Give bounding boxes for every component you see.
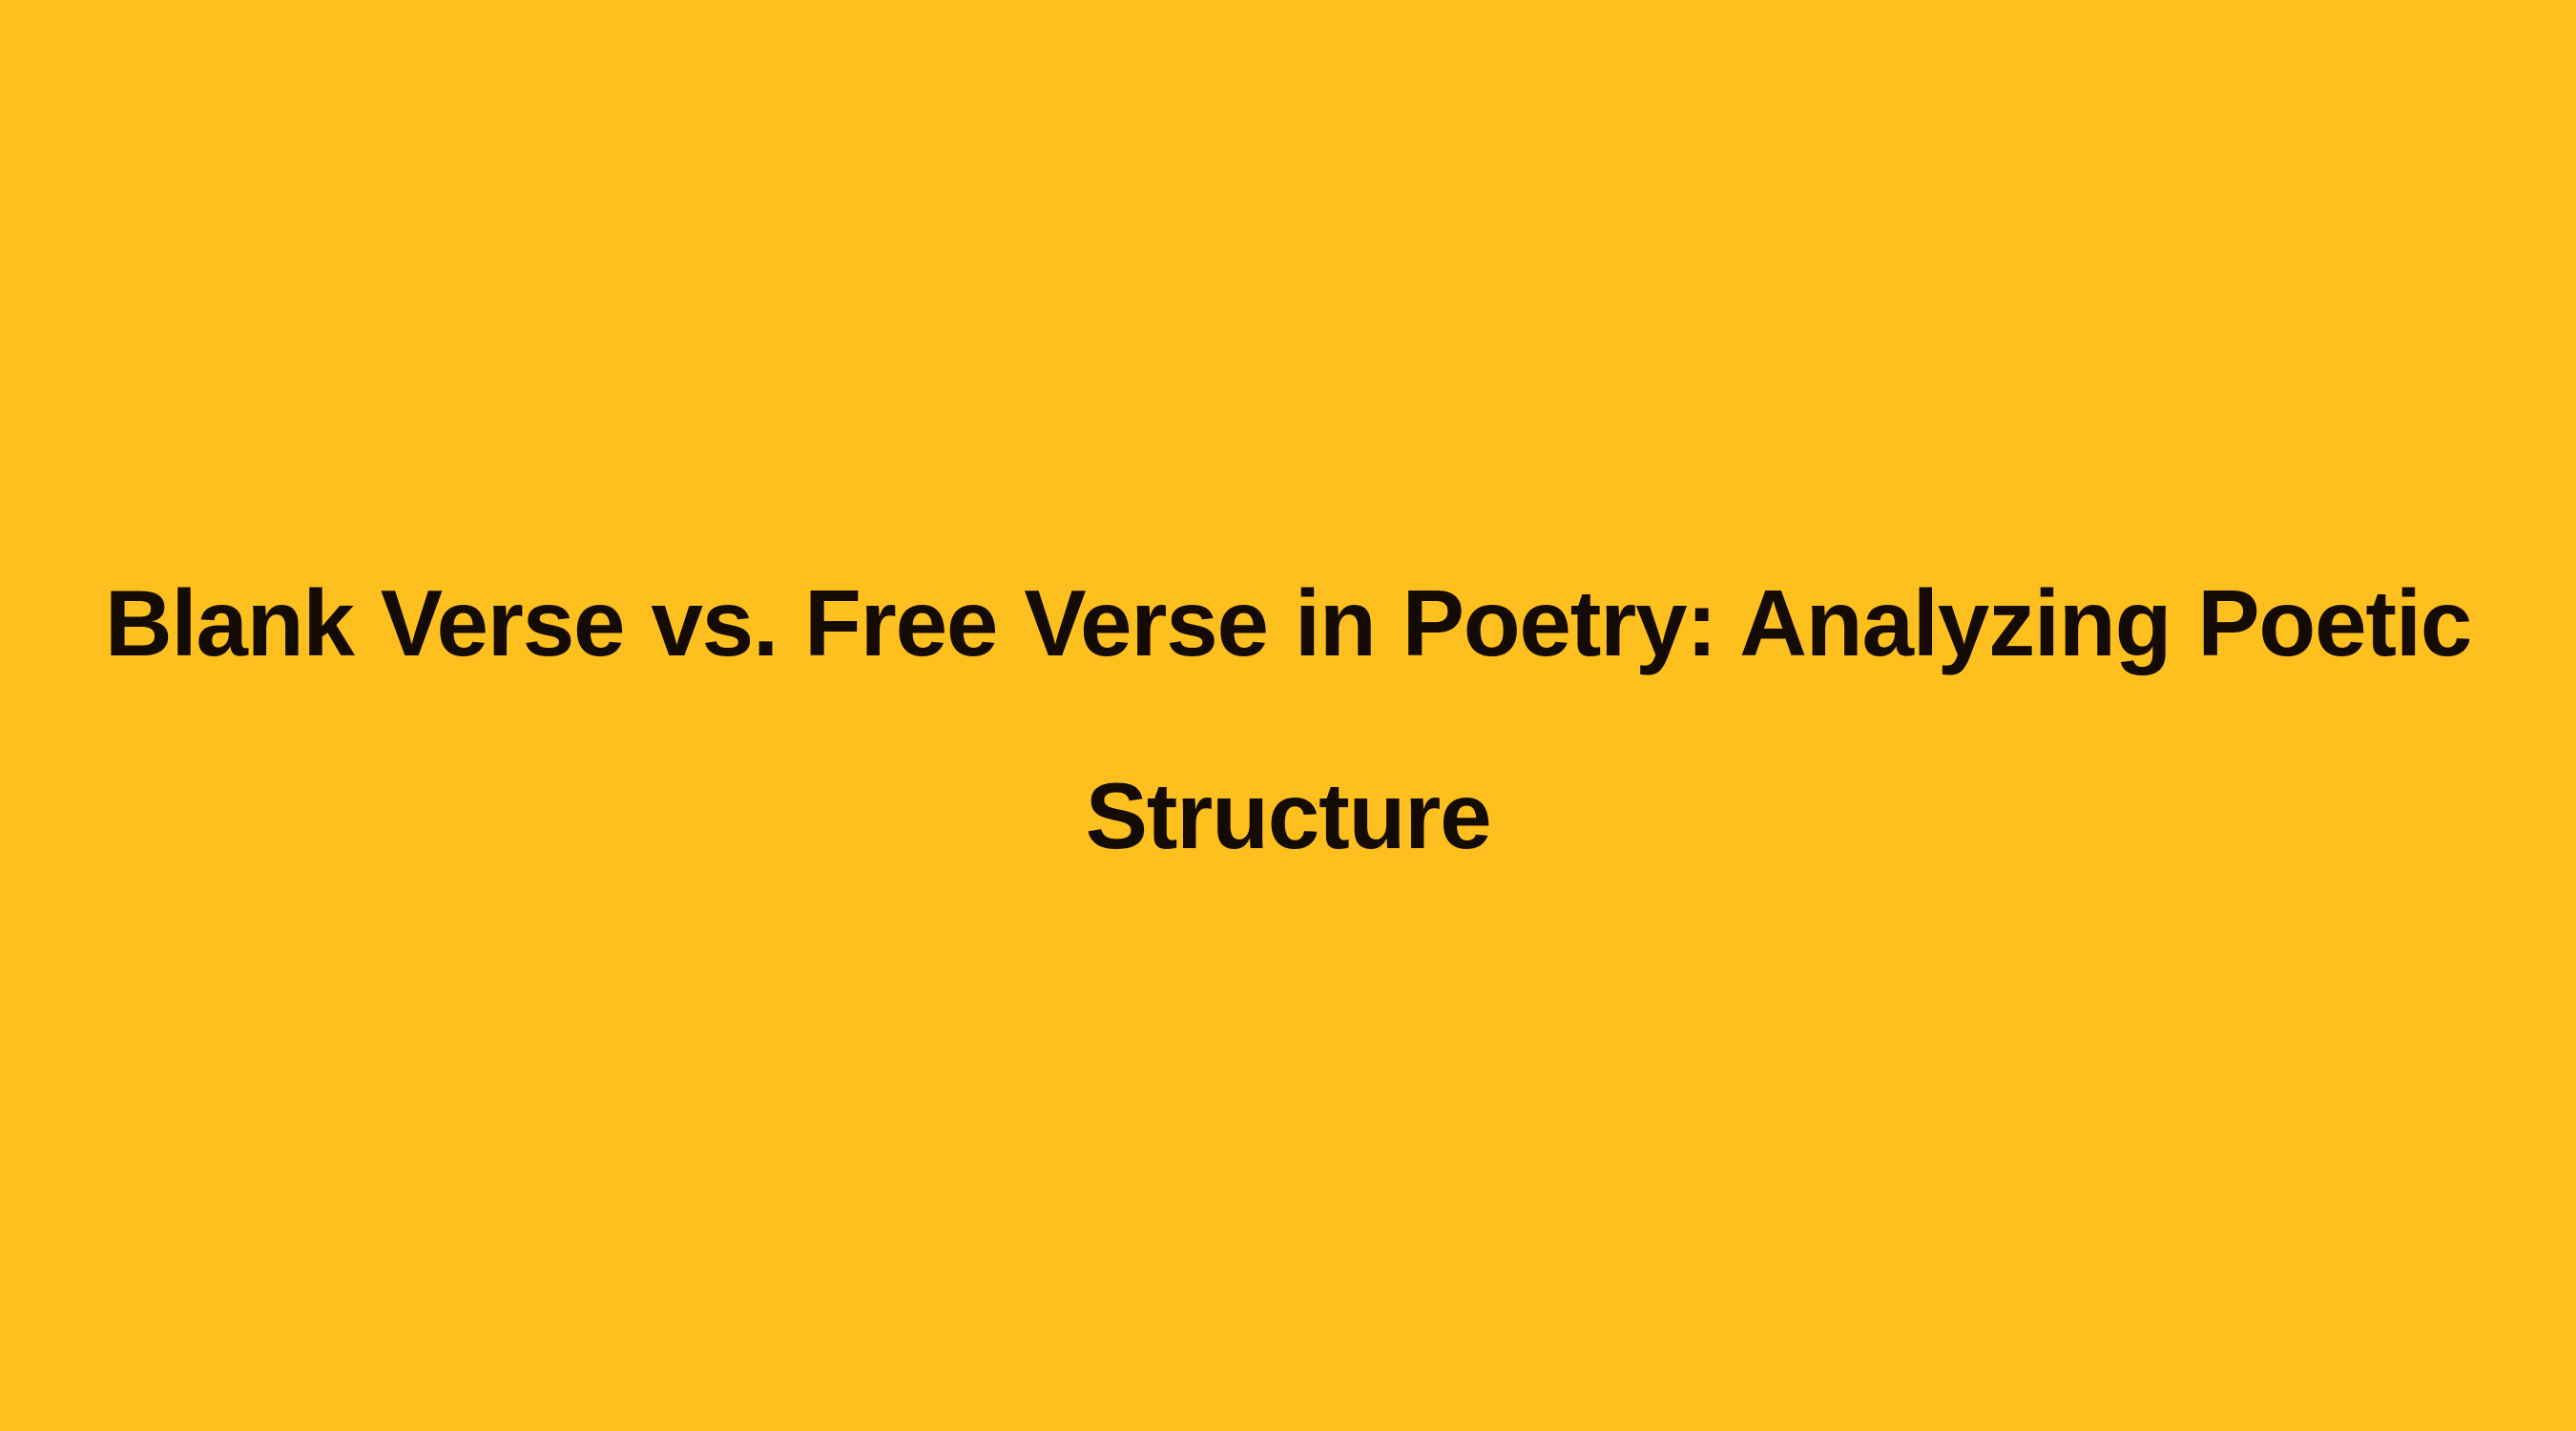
banner-title-line-1: Blank Verse vs. Free Verse in Poetry: An…	[76, 527, 2500, 719]
banner-title-block: Blank Verse vs. Free Verse in Poetry: An…	[0, 527, 2576, 912]
banner-title-line-2: Structure	[76, 719, 2500, 912]
article-title-banner: Blank Verse vs. Free Verse in Poetry: An…	[0, 0, 2576, 1431]
